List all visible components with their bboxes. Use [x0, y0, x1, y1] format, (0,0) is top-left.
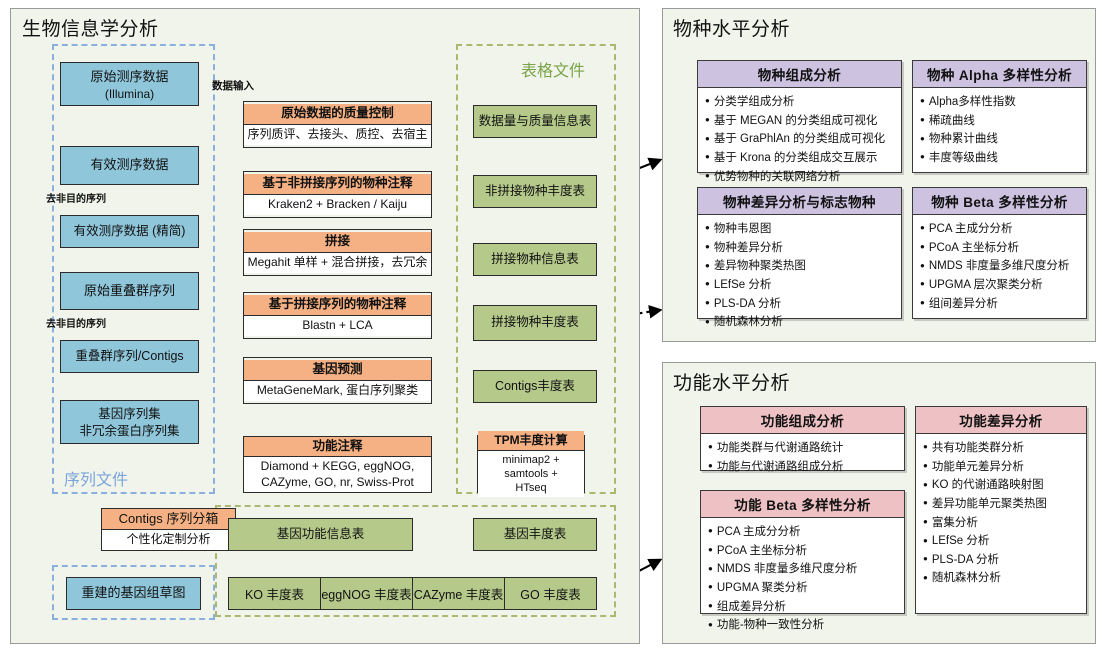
node-gene-abundance-table[interactable]: 基因丰度表 — [473, 518, 597, 551]
list-item: 物种差异分析 — [705, 239, 895, 258]
list-item: 功能与代谢通路组成分析 — [708, 458, 898, 477]
list-item: 功能类群与代谢通路统计 — [708, 439, 898, 458]
list-item: 随机森林分析 — [923, 569, 1080, 588]
node-tpm-abundance-calculation[interactable]: TPM丰度计算 minimap2 + samtools + HTseq — [477, 435, 585, 493]
list-item: 功能-物种一致性分析 — [708, 616, 898, 635]
node-contigs-binning[interactable]: Contigs 序列分箱 个性化定制分析 — [101, 508, 236, 551]
node-assembled-taxonomy-annotation[interactable]: 基于拼接序列的物种注释 Blastn + LCA — [243, 292, 432, 339]
node-raw-sequencing-data-line2: (Illumina) — [61, 87, 198, 101]
node-draft-genome[interactable]: 重建的基因组草图 — [66, 577, 201, 610]
workflow-diagram: 生物信息学分析 序列文件 表格文件 数据输入 数据输出 去非目的序列 去非目的序… — [0, 0, 1102, 655]
list-item: 随机森林分析 — [705, 313, 895, 332]
list-item: LEfSe 分析 — [923, 532, 1080, 551]
gene-abundance-label: 基因丰度表 — [474, 525, 596, 545]
abundance-table-strip: KO 丰度表 eggNOG 丰度表 CAZyme 丰度表 GO 丰度表 — [228, 577, 597, 610]
go-abundance-table[interactable]: GO 丰度表 — [505, 578, 596, 609]
card-title: 物种 Beta 多样性分析 — [913, 188, 1086, 215]
node-clean-sequencing-data[interactable]: 有效测序数据 — [60, 146, 199, 185]
node-assembly[interactable]: 拼接 Megahit 单样 + 混合拼接，去冗余 — [243, 229, 432, 276]
node-raw-sequencing-data-line1: 原始测序数据 — [61, 67, 198, 87]
node-gene-set-line1: 基因序列集 — [61, 405, 198, 425]
card-title: 物种组成分析 — [698, 61, 901, 88]
card-species-beta-diversity-analysis[interactable]: 物种 Beta 多样性分析 PCA 主成分分析 PCoA 主坐标分析 NMDS … — [912, 187, 1087, 319]
list-item: PLS-DA 分析 — [705, 295, 895, 314]
list-item: 基于 Krona 的分类组成交互展示 — [705, 149, 895, 168]
node-assembled-taxa-abundance-table[interactable]: 拼接物种丰度表 — [473, 305, 597, 341]
list-item: 稀疏曲线 — [920, 112, 1080, 131]
gene-function-info-label: 基因功能信息表 — [229, 525, 412, 545]
list-item: 差异物种聚类热图 — [705, 257, 895, 276]
list-item: UPGMA 层次聚类分析 — [920, 276, 1080, 295]
node-assembled-taxa-info-table[interactable]: 拼接物种信息表 — [473, 243, 597, 276]
bioinformatics-panel-title: 生物信息学分析 — [22, 14, 159, 41]
card-function-composition-analysis[interactable]: 功能组成分析 功能类群与代谢通路统计 功能与代谢通路组成分析 — [700, 406, 905, 471]
card-item-list: 物种韦恩图 物种差异分析 差异物种聚类热图 LEfSe 分析 PLS-DA 分析… — [698, 215, 901, 337]
node-functional-annotation[interactable]: 功能注释 Diamond + KEGG, eggNOG, CAZyme, GO,… — [243, 436, 432, 493]
tpm-title: TPM丰度计算 — [478, 431, 584, 450]
list-item: LEfSe 分析 — [705, 276, 895, 295]
qc-detail: 序列质评、去接头、质控、去宿主 — [244, 124, 431, 145]
list-item: 组成差异分析 — [708, 598, 898, 617]
node-gene-prediction[interactable]: 基因预测 MetaGeneMark, 蛋白序列聚类 — [243, 357, 432, 404]
card-title: 功能差异分析 — [916, 407, 1086, 434]
data-quality-info-label: 数据量与质量信息表 — [474, 112, 596, 132]
ko-abundance-table[interactable]: KO 丰度表 — [229, 578, 321, 609]
unassembled-taxonomy-title: 基于非拼接序列的物种注释 — [244, 174, 431, 194]
species-panel-title: 物种水平分析 — [673, 14, 790, 41]
edge-label-remove-nontarget-2: 去非目的序列 — [46, 315, 106, 330]
node-draft-genome-label: 重建的基因组草图 — [67, 583, 200, 603]
node-data-quality-info-table[interactable]: 数据量与质量信息表 — [473, 105, 597, 138]
assembly-title: 拼接 — [244, 232, 431, 252]
list-item: 富集分析 — [923, 514, 1080, 533]
node-raw-contigs-label: 原始重叠群序列 — [61, 281, 198, 301]
node-gene-protein-sequence-set[interactable]: 基因序列集 非冗余蛋白序列集 — [60, 400, 199, 444]
card-title: 功能 Beta 多样性分析 — [701, 491, 904, 518]
unassembled-abundance-label: 非拼接物种丰度表 — [474, 182, 596, 202]
list-item: 共有功能类群分析 — [923, 439, 1080, 458]
card-item-list: PCA 主成分分析 PCoA 主坐标分析 NMDS 非度量多维尺度分析 UPGM… — [913, 215, 1086, 318]
list-item: 物种累计曲线 — [920, 130, 1080, 149]
list-item: 物种韦恩图 — [705, 220, 895, 239]
list-item: 差异功能单元聚类热图 — [923, 495, 1080, 514]
assembly-detail: Megahit 单样 + 混合拼接，去冗余 — [244, 252, 431, 273]
list-item: 丰度等级曲线 — [920, 149, 1080, 168]
node-raw-sequencing-data[interactable]: 原始测序数据 (Illumina) — [60, 62, 199, 106]
eggnog-abundance-table[interactable]: eggNOG 丰度表 — [321, 578, 413, 609]
node-contigs-abundance-table[interactable]: Contigs丰度表 — [473, 370, 597, 403]
list-item: 分类学组成分析 — [705, 93, 895, 112]
list-item: PCA 主成分分析 — [920, 220, 1080, 239]
edge-label-remove-nontarget-1: 去非目的序列 — [46, 190, 106, 205]
assembled-info-label: 拼接物种信息表 — [474, 250, 596, 270]
card-title: 物种差异分析与标志物种 — [698, 188, 901, 215]
functional-annotation-title: 功能注释 — [244, 437, 431, 457]
node-raw-contig-sequences[interactable]: 原始重叠群序列 — [60, 272, 199, 310]
card-species-alpha-diversity-analysis[interactable]: 物种 Alpha 多样性分析 Alpha多样性指数 稀疏曲线 物种累计曲线 丰度… — [912, 60, 1087, 173]
gene-prediction-detail: MetaGeneMark, 蛋白序列聚类 — [244, 380, 431, 401]
binning-title: Contigs 序列分箱 — [102, 509, 235, 529]
card-item-list: PCA 主成分分析 PCoA 主坐标分析 NMDS 非度量多维尺度分析 UPGM… — [701, 518, 904, 640]
list-item: KO 的代谢通路映射图 — [923, 476, 1080, 495]
list-item: UPGMA 聚类分析 — [708, 579, 898, 598]
node-unassembled-taxonomy-annotation[interactable]: 基于非拼接序列的物种注释 Kraken2 + Bracken / Kaiju — [243, 171, 432, 218]
node-unassembled-taxa-abundance-table[interactable]: 非拼接物种丰度表 — [473, 175, 597, 208]
card-item-list: Alpha多样性指数 稀疏曲线 物种累计曲线 丰度等级曲线 — [913, 88, 1086, 173]
card-function-beta-diversity-analysis[interactable]: 功能 Beta 多样性分析 PCA 主成分分析 PCoA 主坐标分析 NMDS … — [700, 490, 905, 614]
card-title: 功能组成分析 — [701, 407, 904, 434]
card-species-difference-and-biomarker-analysis[interactable]: 物种差异分析与标志物种 物种韦恩图 物种差异分析 差异物种聚类热图 LEfSe … — [697, 187, 902, 319]
list-item: 基于 MEGAN 的分类组成可视化 — [705, 112, 895, 131]
node-contigs-sequences[interactable]: 重叠群序列/Contigs — [60, 340, 199, 373]
list-item: PCoA 主坐标分析 — [920, 239, 1080, 258]
qc-title: 原始数据的质量控制 — [244, 104, 431, 124]
list-item: PCA 主成分分析 — [708, 523, 898, 542]
list-item: Alpha多样性指数 — [920, 93, 1080, 112]
binning-detail: 个性化定制分析 — [102, 529, 235, 550]
functional-annotation-detail: Diamond + KEGG, eggNOG, CAZyme, GO, nr, … — [244, 456, 431, 492]
list-item: NMDS 非度量多维尺度分析 — [708, 560, 898, 579]
card-title: 物种 Alpha 多样性分析 — [913, 61, 1086, 88]
card-item-list: 共有功能类群分析 功能单元差异分析 KO 的代谢通路映射图 差异功能单元聚类热图… — [916, 434, 1086, 593]
edge-label-data-input: 数据输入 — [212, 78, 254, 93]
node-gene-function-info-table[interactable]: 基因功能信息表 — [228, 518, 413, 551]
list-item: 功能单元差异分析 — [923, 458, 1080, 477]
list-item: NMDS 非度量多维尺度分析 — [920, 257, 1080, 276]
list-item: PLS-DA 分析 — [923, 551, 1080, 570]
list-item: PCoA 主坐标分析 — [708, 542, 898, 561]
sequence-files-label: 序列文件 — [64, 466, 128, 490]
card-function-difference-analysis[interactable]: 功能差异分析 共有功能类群分析 功能单元差异分析 KO 的代谢通路映射图 差异功… — [915, 406, 1087, 614]
assembled-taxonomy-title: 基于拼接序列的物种注释 — [244, 295, 431, 315]
table-files-label: 表格文件 — [521, 57, 585, 81]
contigs-abundance-label: Contigs丰度表 — [474, 377, 596, 397]
list-item: 基于 GraPhlAn 的分类组成可视化 — [705, 130, 895, 149]
node-clean-refined-label: 有效测序数据 (精简) — [61, 222, 198, 242]
card-item-list: 功能类群与代谢通路统计 功能与代谢通路组成分析 — [701, 434, 904, 481]
node-contigs-label: 重叠群序列/Contigs — [61, 347, 198, 367]
node-clean-sequencing-data-label: 有效测序数据 — [61, 155, 198, 175]
node-clean-sequencing-data-refined[interactable]: 有效测序数据 (精简) — [60, 215, 199, 248]
unassembled-taxonomy-detail: Kraken2 + Bracken / Kaiju — [244, 194, 431, 215]
function-panel-title: 功能水平分析 — [673, 368, 790, 395]
gene-prediction-title: 基因预测 — [244, 360, 431, 380]
card-item-list: 分类学组成分析 基于 MEGAN 的分类组成可视化 基于 GraPhlAn 的分… — [698, 88, 901, 191]
node-gene-set-line2: 非冗余蛋白序列集 — [61, 424, 198, 439]
tpm-detail: minimap2 + samtools + HTseq — [478, 450, 584, 498]
node-raw-data-quality-control[interactable]: 原始数据的质量控制 序列质评、去接头、质控、去宿主 — [243, 101, 432, 148]
assembled-abundance-label: 拼接物种丰度表 — [474, 313, 596, 333]
assembled-taxonomy-detail: Blastn + LCA — [244, 315, 431, 336]
card-species-composition-analysis[interactable]: 物种组成分析 分类学组成分析 基于 MEGAN 的分类组成可视化 基于 GraP… — [697, 60, 902, 173]
list-item: 优势物种的关联网络分析 — [705, 168, 895, 187]
cazyme-abundance-table[interactable]: CAZyme 丰度表 — [413, 578, 505, 609]
list-item: 组间差异分析 — [920, 295, 1080, 314]
